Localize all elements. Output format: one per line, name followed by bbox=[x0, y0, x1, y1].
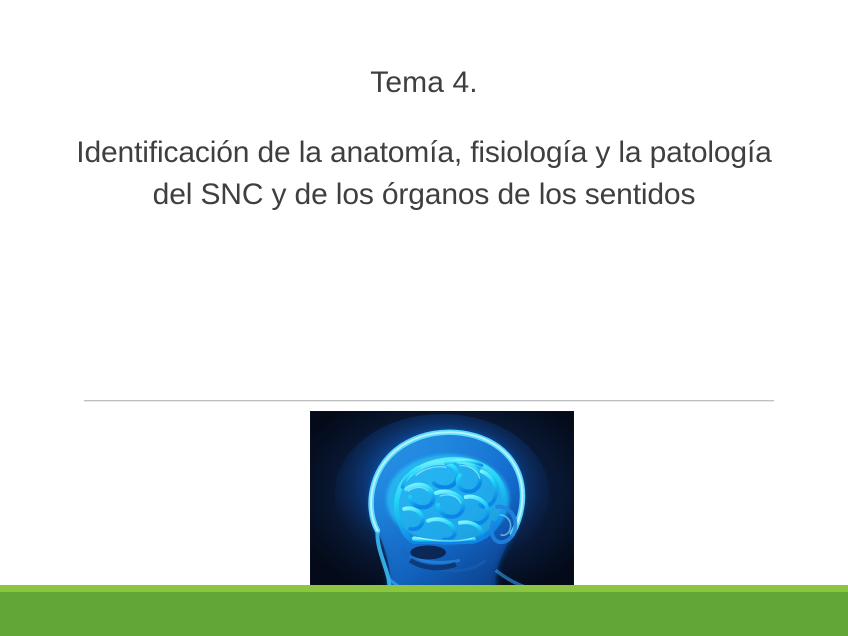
page-subtitle: Identificación de la anatomía, fisiologí… bbox=[60, 132, 788, 216]
slide-canvas: Tema 4. Identificación de la anatomía, f… bbox=[0, 0, 848, 636]
title-spacer bbox=[60, 104, 788, 132]
brain-illustration[interactable] bbox=[310, 411, 574, 594]
footer-band-light bbox=[0, 585, 848, 592]
horizontal-divider bbox=[84, 400, 774, 402]
page-title: Tema 4. bbox=[60, 62, 788, 104]
footer-band-dark bbox=[0, 592, 848, 636]
title-placeholder[interactable]: Tema 4. Identificación de la anatomía, f… bbox=[60, 62, 788, 216]
brain-illustration-graphic bbox=[311, 412, 573, 593]
